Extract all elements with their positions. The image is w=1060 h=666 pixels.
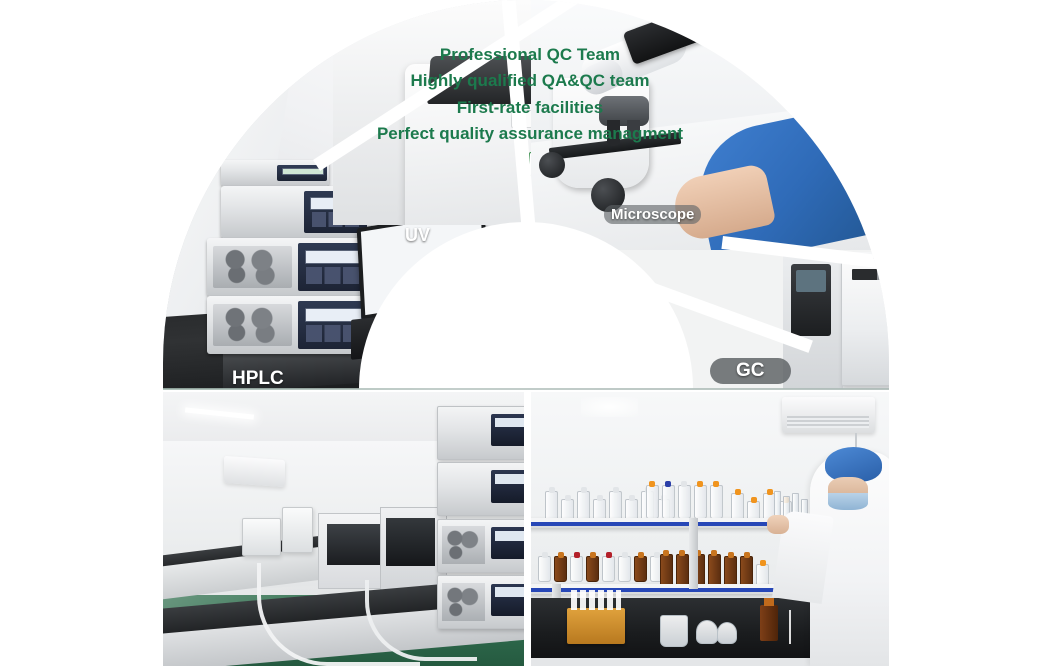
module-panel xyxy=(491,470,524,502)
amber-bottle xyxy=(760,605,778,641)
reagent-bottle xyxy=(662,485,675,519)
reagent-bottle xyxy=(618,556,631,582)
module-panel xyxy=(491,584,524,616)
section-divider xyxy=(163,388,889,390)
slogan-line-4: Perfect quality assurance managment xyxy=(0,121,1060,147)
hplc-stack-module xyxy=(437,519,524,573)
reagent-bottle xyxy=(646,485,659,519)
microscope-focus-knob xyxy=(539,152,565,178)
conical-flask xyxy=(717,622,737,644)
slogan-line-2: Highly qualified QA&QC team xyxy=(0,68,1060,94)
slogan-line-3: First-rate facilities xyxy=(0,95,1060,121)
shelf-post xyxy=(689,518,698,589)
hplc-stack-module xyxy=(437,406,524,460)
lab-instrument xyxy=(282,507,313,553)
reagent-bottle-row xyxy=(646,485,723,519)
air-conditioner xyxy=(782,397,875,433)
hplc-module-detector xyxy=(221,160,329,186)
conical-flask xyxy=(696,620,718,644)
reagent-bottle-row xyxy=(538,556,663,582)
hplc-module-screen xyxy=(282,168,324,175)
photo-instrument-room[interactable] xyxy=(163,392,524,666)
pump-head xyxy=(442,526,485,564)
hplc-module-pump-a xyxy=(207,238,371,296)
gc-controller xyxy=(791,264,831,336)
reagent-bottle xyxy=(678,485,691,519)
caption-hplc: HPLC xyxy=(232,368,284,390)
reagent-bottle xyxy=(660,554,673,588)
hplc-module-keypad xyxy=(306,267,358,284)
slogan-line-1: Professional QC Team xyxy=(0,42,1060,68)
collage-canvas: 正常 xyxy=(0,0,1060,666)
caption-uv: UV xyxy=(405,225,430,246)
ceiling-light xyxy=(581,397,638,416)
reagent-bottle xyxy=(538,556,551,582)
air-conditioner xyxy=(224,456,285,488)
hplc-module-pump-b xyxy=(207,296,371,354)
reagent-bottle xyxy=(602,556,615,582)
hplc-module-screen xyxy=(305,250,362,264)
caption-gc: GC xyxy=(710,358,791,384)
hplc-stack-module xyxy=(437,462,524,516)
gc-oven-badge xyxy=(852,269,889,280)
glass-bottle xyxy=(660,615,688,647)
caption-microscope: Microscope xyxy=(604,205,701,224)
reagent-bottle xyxy=(694,485,707,519)
technician-hand xyxy=(767,515,788,534)
qc-slogan-block: Professional QC Team Highly qualified QA… xyxy=(0,42,1060,147)
hplc-module-panel xyxy=(298,243,367,291)
gc-ms-window xyxy=(386,518,435,566)
gc-side-panel xyxy=(783,252,843,389)
reagent-bottle xyxy=(708,554,721,588)
module-panel xyxy=(491,414,524,446)
reagent-bottle xyxy=(586,556,599,582)
reagent-bottle xyxy=(710,485,723,519)
hplc-pump-head xyxy=(213,304,292,346)
reagent-bottle xyxy=(554,556,567,582)
lab-instrument xyxy=(242,518,280,556)
gc-oven xyxy=(841,258,889,386)
reagent-bottle xyxy=(676,554,689,588)
hplc-pump-head xyxy=(213,246,292,288)
reagent-bottle xyxy=(570,556,583,582)
reagent-bottle xyxy=(634,556,647,582)
technician-mask xyxy=(828,493,867,509)
module-panel xyxy=(491,527,524,559)
photo-reagent-room[interactable] xyxy=(531,392,889,666)
test-tube-rack xyxy=(567,608,625,644)
photo-gc[interactable] xyxy=(783,252,889,389)
